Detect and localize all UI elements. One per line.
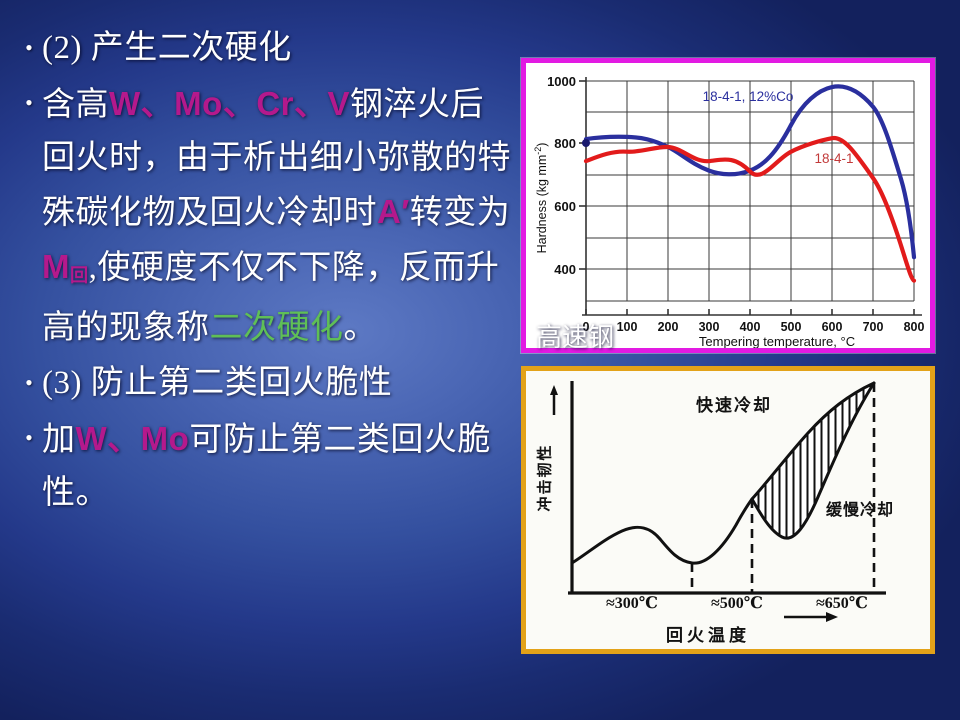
svg-text:600: 600	[822, 320, 843, 334]
svg-text:100: 100	[617, 320, 638, 334]
bullet-marker-icon: •	[16, 77, 42, 129]
bullet-marker-icon: •	[16, 22, 42, 74]
svg-text:400: 400	[740, 320, 761, 334]
bullet-marker-icon: •	[16, 357, 42, 409]
bullet-item: • (3) 防止第二类回火脆性	[16, 357, 516, 410]
element-v: V	[328, 85, 351, 122]
x-tick-labels: 0 100 200 300 400 500 600 700 800	[583, 320, 925, 334]
bullet-secondary-hardening-heading: (2) 产生二次硬化	[42, 22, 516, 75]
element-w: W	[76, 420, 108, 457]
slide-canvas: • (2) 产生二次硬化 • 含高W、Mo、Cr、V钢淬火后回火时，由于析出细小…	[0, 0, 960, 720]
bullet-prevent-temper-embrittlement-body: 加W、Mo可防止第二类回火脆性。	[42, 412, 516, 520]
tick-500c: ≈500℃	[711, 593, 763, 613]
label-slow-cooling: 缓慢冷却	[826, 501, 894, 521]
term-secondary-hardening: 二次硬化	[210, 310, 344, 346]
svg-text:500: 500	[781, 320, 802, 334]
svg-text:700: 700	[863, 320, 884, 334]
y-axis-title: Hardness (kg mm-2)	[533, 143, 549, 254]
series-label-red: 18-4-1	[814, 151, 853, 166]
bullet-list: • (2) 产生二次硬化 • 含高W、Mo、Cr、V钢淬火后回火时，由于析出细小…	[16, 22, 516, 522]
bullet-marker-icon: •	[16, 412, 42, 464]
svg-text:300: 300	[699, 320, 720, 334]
label-x-axis-tempering-temperature: 回火温度	[666, 621, 750, 646]
hardness-chart-frame: 1000 800 600 400	[521, 58, 935, 353]
svg-text:600: 600	[554, 199, 576, 214]
element-cr: Cr	[256, 85, 294, 122]
bullet-secondary-hardening-body: 含高W、Mo、Cr、V钢淬火后回火时，由于析出细小弥散的特殊碳化物及回火冷却时A…	[42, 77, 516, 355]
bullet-item: • (2) 产生二次硬化	[16, 22, 516, 75]
x-axis-title: Tempering temperature, °C	[699, 334, 855, 348]
bullet-prevent-temper-embrittlement-heading: (3) 防止第二类回火脆性	[42, 357, 516, 410]
chart-marker-point	[582, 139, 590, 147]
toughness-diagram-frame: 快速冷却 缓慢冷却 冲击韧性 回火温度 ≈300℃ ≈500℃ ≈650℃	[521, 366, 935, 654]
svg-text:400: 400	[554, 262, 576, 277]
svg-text:1000: 1000	[547, 74, 576, 89]
element-mo: Mo	[141, 420, 190, 457]
label-fast-cooling: 快速冷却	[696, 391, 772, 416]
bullet-item: • 加W、Mo可防止第二类回火脆性。	[16, 412, 516, 520]
element-w: W	[109, 85, 141, 122]
tick-650c: ≈650℃	[816, 593, 868, 613]
hardness-chart: 1000 800 600 400	[526, 63, 930, 348]
hardness-chart-plot: 1000 800 600 400	[526, 63, 930, 348]
hardness-chart-svg: 1000 800 600 400	[526, 63, 930, 348]
toughness-diagram: 快速冷却 缓慢冷却 冲击韧性 回火温度 ≈300℃ ≈500℃ ≈650℃	[526, 371, 930, 649]
phase-m-hui: M回	[42, 248, 89, 285]
tick-300c: ≈300℃	[606, 593, 658, 613]
svg-text:800: 800	[904, 320, 925, 334]
phase-a-prime: A′	[377, 193, 410, 230]
series-label-blue: 18-4-1, 12%Co	[703, 89, 794, 104]
chart-caption-gaosugang: 高速钢	[536, 317, 614, 354]
bullet-item: • 含高W、Mo、Cr、V钢淬火后回火时，由于析出细小弥散的特殊碳化物及回火冷却…	[16, 77, 516, 355]
element-mo: Mo	[174, 85, 223, 122]
label-y-axis-toughness: 冲击韧性	[534, 443, 555, 511]
svg-text:200: 200	[658, 320, 679, 334]
svg-text:800: 800	[554, 136, 576, 151]
